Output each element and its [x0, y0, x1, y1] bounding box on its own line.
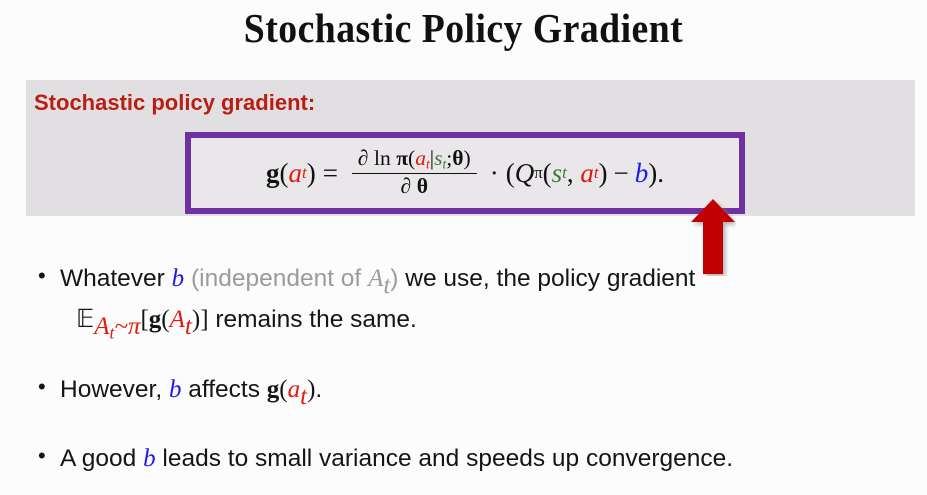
bullet-1-bracket-open: [: [140, 306, 148, 333]
eq-equals: =: [323, 160, 338, 187]
bullet-1-pre: Whatever: [60, 265, 172, 292]
list-item: Whatever b (independent of At) we use, t…: [34, 262, 904, 345]
bullet-1-expectation-subscript: At~π: [94, 313, 140, 340]
bullet-3-pre: A good: [60, 445, 143, 472]
eq-num-close-paren: ): [464, 146, 471, 170]
eq-dot-operator: ·: [490, 160, 499, 187]
bullet-1-bracket-close: ]: [200, 306, 208, 333]
eq-period: .: [657, 160, 664, 187]
bullet-3-post: leads to small variance and speeds up co…: [156, 445, 733, 472]
eq-rhs-q-subscript-pi: π: [534, 165, 542, 182]
eq-rhs-inner-open-paren: (: [543, 160, 552, 187]
eq-den-partial: ∂: [401, 174, 412, 198]
eq-num-theta: θ: [452, 146, 463, 170]
eq-rhs-q-function: Q: [515, 160, 535, 187]
page-title: Stochastic Policy Gradient: [37, 4, 890, 52]
bullet-1-baseline-b: b: [172, 265, 185, 292]
bullet-1-g-close-paren: ): [192, 306, 200, 333]
bullet-1-line2-post: remains the same.: [209, 306, 417, 333]
eq-num-ln: ln: [374, 146, 391, 170]
bullet-2-period: .: [315, 376, 322, 403]
bullet-1-exp-sub-pi: π: [128, 313, 141, 340]
eq-baseline-b: b: [635, 160, 649, 187]
stochastic-policy-gradient-equation: g(at) = ∂ ln π(at|st;θ) ∂ θ · (Qπ(st, at…: [266, 148, 664, 198]
eq-den-theta: θ: [417, 174, 428, 198]
panel-heading: Stochastic policy gradient:: [34, 90, 315, 116]
eq-num-pi: π: [396, 146, 408, 170]
eq-num-partial: ∂: [358, 146, 369, 170]
bullet-1-expectation-symbol: 𝔼: [76, 306, 94, 333]
eq-lhs-action: a: [289, 160, 303, 187]
bullet-1-random-action: A: [368, 265, 383, 292]
eq-fraction-denominator: ∂ θ: [395, 174, 434, 198]
bullet-1-paren-open: (independent of: [184, 265, 368, 292]
bullet-1-g-function: g: [149, 306, 162, 333]
bullet-2-mid: affects: [181, 376, 266, 403]
bullet-list: Whatever b (independent of At) we use, t…: [34, 262, 904, 476]
bullet-1-g-arg: A: [170, 306, 185, 333]
eq-fraction-numerator: ∂ ln π(at|st;θ): [352, 148, 477, 174]
bullet-1-g-arg-subscript: t: [185, 313, 192, 340]
eq-num-action: a: [415, 146, 426, 170]
bullet-1-post: we use, the policy gradient: [398, 265, 695, 292]
eq-rhs-close-paren: ): [648, 160, 657, 187]
eq-lhs-g: g: [266, 160, 280, 187]
eq-rhs-open-paren: (: [506, 160, 515, 187]
eq-rhs-comma: ,: [567, 160, 574, 187]
eq-num-state: s: [434, 146, 442, 170]
bullet-1-g-open-paren: (: [161, 306, 169, 333]
formula-panel: Stochastic policy gradient: g(at) = ∂ ln…: [26, 80, 915, 216]
eq-minus-operator: −: [613, 160, 628, 187]
list-item: However, b affects g(at).: [34, 373, 904, 414]
bullet-2-baseline-b: b: [169, 376, 182, 403]
bullet-1-line-1: Whatever b (independent of At) we use, t…: [60, 262, 904, 303]
bullet-1-exp-sub-A: A: [94, 313, 109, 340]
bullet-1-exp-sub-tilde: ~: [114, 313, 128, 340]
eq-rhs-action: a: [580, 160, 594, 187]
bullet-2-pre: However,: [60, 376, 169, 403]
list-item: A good b leads to small variance and spe…: [34, 442, 904, 476]
bullet-2-action: a: [288, 376, 301, 403]
equation-frame: g(at) = ∂ ln π(at|st;θ) ∂ θ · (Qπ(st, at…: [185, 132, 745, 214]
eq-rhs-state: s: [552, 160, 563, 187]
bullet-2-g-function: g: [267, 376, 280, 403]
eq-lhs-open-paren: (: [280, 160, 289, 187]
bullet-3-baseline-b: b: [143, 445, 156, 472]
bullet-1-line-2: 𝔼At~π[g(At)] remains the same.: [60, 303, 904, 345]
bullet-2-open-paren: (: [279, 376, 287, 403]
eq-lhs-close-paren: ): [307, 160, 316, 187]
eq-rhs-inner-close-paren: ): [598, 160, 607, 187]
eq-fraction: ∂ ln π(at|st;θ) ∂ θ: [352, 148, 477, 198]
